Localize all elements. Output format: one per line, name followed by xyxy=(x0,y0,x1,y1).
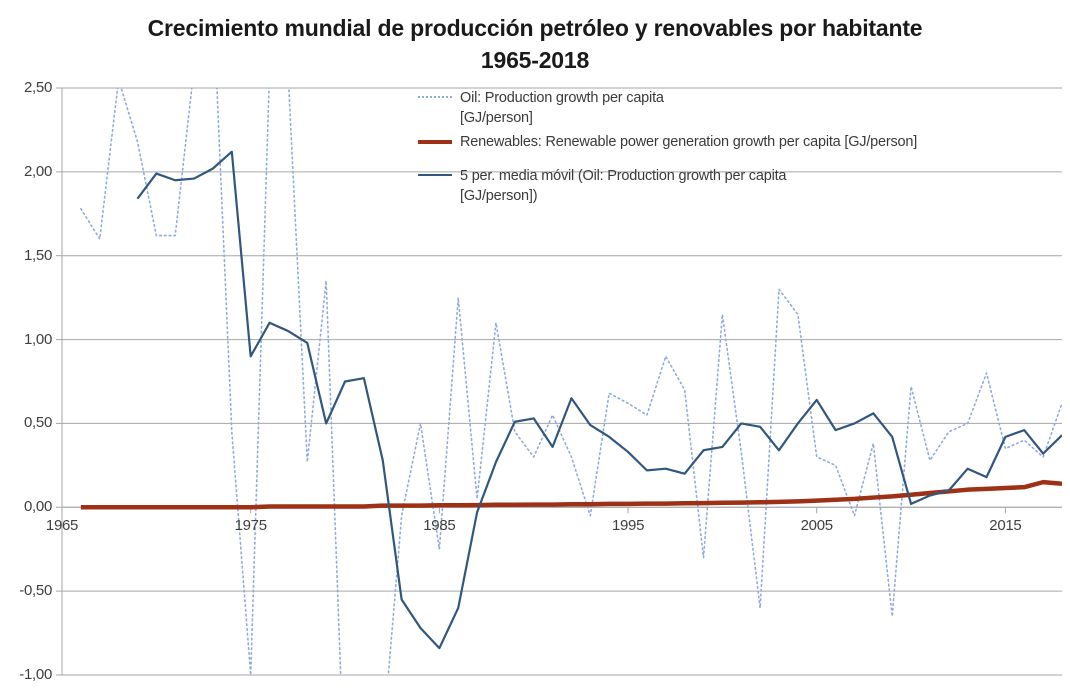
legend-label-line2: [GJ/person] xyxy=(460,108,664,128)
y-axis-label: 1,50 xyxy=(0,247,52,264)
legend-label-line1: Oil: Production growth per capita xyxy=(460,90,664,106)
y-axis-label: 1,00 xyxy=(0,331,52,348)
x-axis-label: 2005 xyxy=(787,517,847,534)
legend-label: 5 per. media móvil (Oil: Production grow… xyxy=(460,166,786,206)
series-line-2 xyxy=(137,152,1062,648)
y-axis-label: 2,50 xyxy=(0,79,52,96)
x-axis-label: 1975 xyxy=(221,517,281,534)
legend-label-line1: 5 per. media móvil (Oil: Production grow… xyxy=(460,168,786,184)
chart-root: Crecimiento mundial de producción petról… xyxy=(0,0,1070,692)
y-axis-label: 2,00 xyxy=(0,163,52,180)
legend-swatch-icon xyxy=(418,132,452,149)
y-axis-label: 0,00 xyxy=(0,498,52,515)
y-axis-label: -0,50 xyxy=(0,582,52,599)
legend-item-2[interactable]: 5 per. media móvil (Oil: Production grow… xyxy=(418,166,1038,206)
legend-item-0[interactable]: Oil: Production growth per capita[GJ/per… xyxy=(418,88,1038,128)
x-axis-label: 1985 xyxy=(409,517,469,534)
x-axis-label: 1995 xyxy=(598,517,658,534)
legend-label-line2: [GJ/person]) xyxy=(460,186,786,206)
legend-swatch-icon xyxy=(418,88,452,105)
series-line-1 xyxy=(81,482,1062,507)
legend-swatch-icon xyxy=(418,166,452,183)
legend-label-line1: Renewables: Renewable power generation g… xyxy=(460,134,917,150)
x-axis-label: 1965 xyxy=(32,517,92,534)
legend-label: Oil: Production growth per capita[GJ/per… xyxy=(460,88,664,128)
y-axis-label: 0,50 xyxy=(0,414,52,431)
y-axis-label: -1,00 xyxy=(0,666,52,683)
legend-item-1[interactable]: Renewables: Renewable power generation g… xyxy=(418,132,1038,152)
x-axis-label: 2015 xyxy=(975,517,1035,534)
legend-label: Renewables: Renewable power generation g… xyxy=(460,132,917,152)
chart-legend: Oil: Production growth per capita[GJ/per… xyxy=(418,88,1038,210)
